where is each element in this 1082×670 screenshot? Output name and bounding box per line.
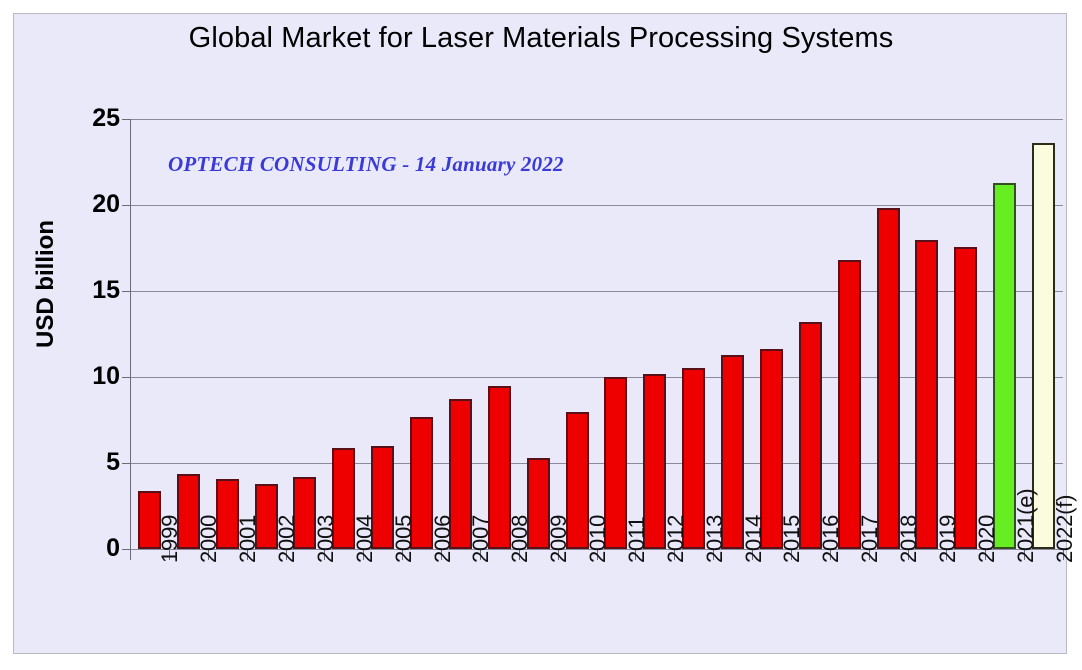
y-tick-label: 5 xyxy=(60,450,120,475)
bar-2020 xyxy=(954,247,977,549)
y-tick-mark xyxy=(122,463,131,464)
x-tick-label: 2018 xyxy=(896,515,922,563)
y-axis-ticks: 0510152025 xyxy=(48,0,120,670)
bar-2019 xyxy=(915,240,938,549)
x-tick-label: 2011 xyxy=(624,516,650,563)
x-tick-label: 2022(f) xyxy=(1052,495,1078,563)
x-tick-label: 2019 xyxy=(935,515,961,563)
y-tick-label: 25 xyxy=(60,106,120,131)
x-tick-label: 2017 xyxy=(857,515,883,563)
y-tick-mark xyxy=(122,119,131,120)
x-tick-label: 1999 xyxy=(157,515,183,563)
x-tick-label: 2008 xyxy=(507,515,533,563)
x-tick-label: 2002 xyxy=(274,515,300,563)
x-tick-label: 2012 xyxy=(663,515,689,563)
gridline xyxy=(130,119,1063,120)
x-tick-label: 2006 xyxy=(430,515,456,563)
y-tick-mark xyxy=(122,205,131,206)
x-tick-label: 2021(e) xyxy=(1013,489,1039,563)
y-tick-label: 20 xyxy=(60,192,120,217)
y-tick-label: 0 xyxy=(60,536,120,561)
bar-2017 xyxy=(838,260,861,549)
x-tick-label: 2014 xyxy=(741,515,767,563)
x-tick-label: 2005 xyxy=(391,515,417,563)
x-tick-label: 2015 xyxy=(779,515,805,563)
x-tick-label: 2003 xyxy=(313,515,339,563)
x-tick-label: 2000 xyxy=(196,515,222,563)
x-tick-label: 2004 xyxy=(352,515,378,563)
x-tick-label: 2016 xyxy=(818,515,844,563)
y-tick-label: 15 xyxy=(60,278,120,303)
chart-title: Global Market for Laser Materials Proces… xyxy=(0,22,1082,55)
y-tick-label: 10 xyxy=(60,364,120,389)
chart-figure: Global Market for Laser Materials Proces… xyxy=(0,0,1082,670)
x-tick-label: 2010 xyxy=(585,515,611,563)
y-tick-mark xyxy=(122,377,131,378)
x-tick-label: 2007 xyxy=(468,515,494,563)
bar-2018 xyxy=(877,208,900,549)
x-tick-label: 2001 xyxy=(235,515,261,563)
plot-area xyxy=(130,119,1063,549)
x-tick-mark xyxy=(130,550,131,560)
x-tick-label: 2009 xyxy=(546,515,572,563)
y-tick-mark xyxy=(122,291,131,292)
x-tick-label: 2013 xyxy=(702,515,728,563)
gridline xyxy=(130,205,1063,206)
x-tick-label: 2020 xyxy=(974,515,1000,563)
